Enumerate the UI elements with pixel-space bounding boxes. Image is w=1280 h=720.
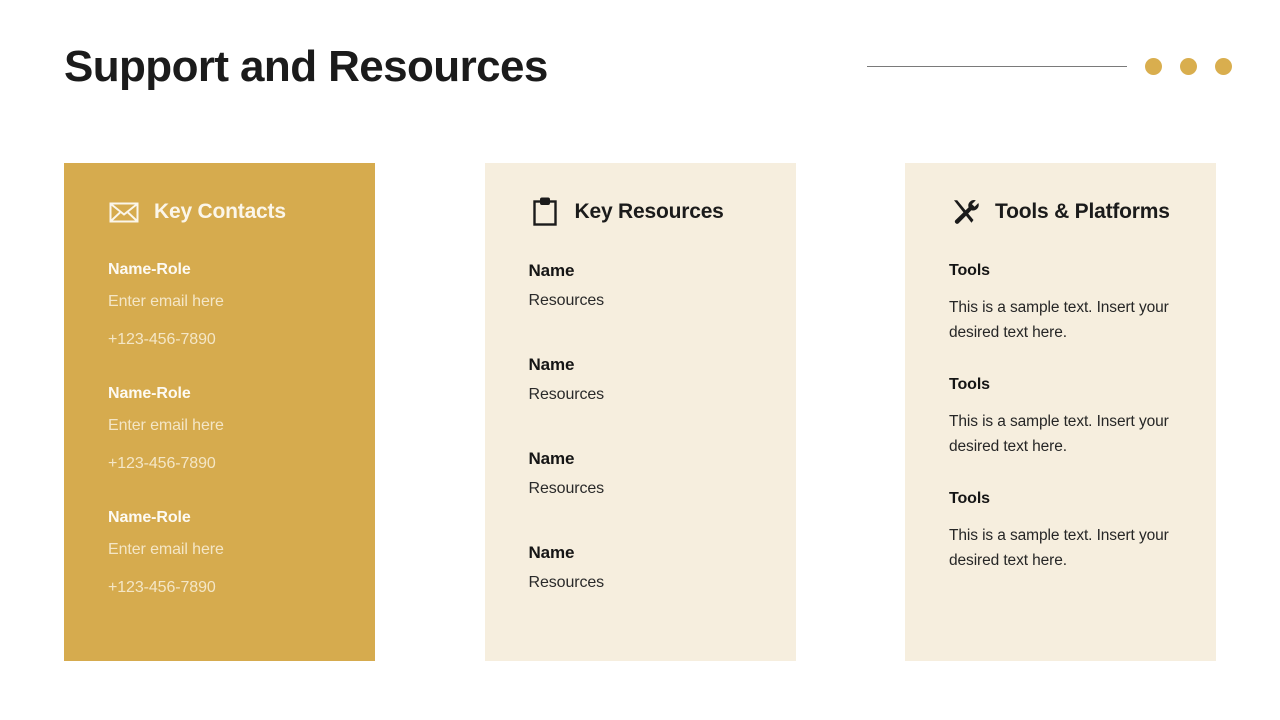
resource-block: Name Resources [529,257,752,317]
card-body: Name-Role Enter email here +123-456-7890… [108,257,331,607]
tool-block: Tools This is a sample text. Insert your… [949,371,1172,459]
contact-name-role: Name-Role [108,381,331,407]
tool-name: Tools [949,371,1172,399]
contact-name-role: Name-Role [108,257,331,283]
dot-icon [1215,58,1232,75]
envelope-icon [108,196,140,228]
resource-block: Name Resources [529,539,752,599]
resource-name: Name [529,539,752,567]
resource-name: Name [529,445,752,473]
contact-phone: +123-456-7890 [108,569,331,607]
header-decoration [867,58,1232,75]
contact-email: Enter email here [108,407,331,445]
resource-block: Name Resources [529,445,752,505]
contact-email: Enter email here [108,531,331,569]
contact-name-role: Name-Role [108,505,331,531]
card-body: Tools This is a sample text. Insert your… [949,257,1172,573]
tool-name: Tools [949,257,1172,285]
tool-block: Tools This is a sample text. Insert your… [949,257,1172,345]
resource-value: Resources [529,285,752,317]
tool-description: This is a sample text. Insert your desir… [949,523,1172,573]
slide-header: Support and Resources [0,0,1280,140]
resource-name: Name [529,351,752,379]
card-header: Key Contacts [108,189,331,235]
card-key-resources[interactable]: Key Resources Name Resources Name Resour… [485,163,796,661]
clipboard-icon [529,196,561,228]
tool-description: This is a sample text. Insert your desir… [949,295,1172,345]
dot-icon [1145,58,1162,75]
page-title: Support and Resources [64,40,548,94]
cards-row: Key Contacts Name-Role Enter email here … [64,163,1216,661]
card-key-contacts[interactable]: Key Contacts Name-Role Enter email here … [64,163,375,661]
card-title: Key Contacts [154,200,286,224]
contact-block: Name-Role Enter email here +123-456-7890 [108,505,331,607]
contact-block: Name-Role Enter email here +123-456-7890 [108,257,331,359]
resource-block: Name Resources [529,351,752,411]
tool-name: Tools [949,485,1172,513]
card-header: Key Resources [529,189,752,235]
resource-value: Resources [529,567,752,599]
resource-name: Name [529,257,752,285]
card-tools-platforms[interactable]: Tools & Platforms Tools This is a sample… [905,163,1216,661]
resource-value: Resources [529,379,752,411]
card-title: Key Resources [575,200,724,224]
decorative-dots [1145,58,1232,75]
horizontal-rule [867,66,1127,67]
resource-value: Resources [529,473,752,505]
contact-phone: +123-456-7890 [108,321,331,359]
contact-phone: +123-456-7890 [108,445,331,483]
card-header: Tools & Platforms [949,189,1172,235]
contact-email: Enter email here [108,283,331,321]
dot-icon [1180,58,1197,75]
tool-block: Tools This is a sample text. Insert your… [949,485,1172,573]
card-title: Tools & Platforms [995,200,1170,224]
contact-block: Name-Role Enter email here +123-456-7890 [108,381,331,483]
tool-description: This is a sample text. Insert your desir… [949,409,1172,459]
tools-icon [949,196,981,228]
card-body: Name Resources Name Resources Name Resou… [529,257,752,599]
